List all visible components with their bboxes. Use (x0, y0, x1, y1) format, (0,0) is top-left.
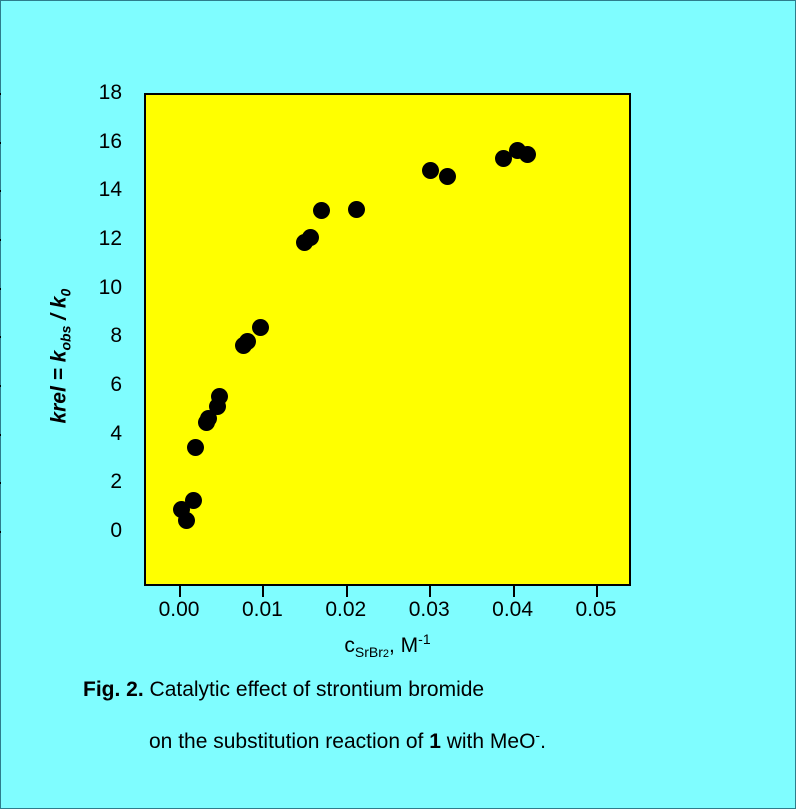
x-axis-tick-label: 0.00 (134, 599, 224, 620)
caption-compound-label: 1 (429, 730, 441, 753)
x-axis-tick-label: 0.05 (551, 599, 641, 620)
caption-line2-suffix: . (540, 730, 546, 753)
figure-caption: Fig. 2. Catalytic effect of strontium br… (1, 679, 796, 752)
y-axis-tick-mark (0, 288, 1, 290)
y-axis-tick-label: 2 (62, 471, 122, 492)
y-axis-tick-mark (0, 93, 1, 95)
data-point (313, 202, 330, 219)
x-axis-title: cSrBr2, M-1 (144, 631, 631, 660)
data-point (422, 162, 439, 179)
y-axis-title-zero: 0 (57, 289, 73, 297)
y-axis-title: krel = kobs / k0 (37, 256, 83, 456)
y-axis-title-k0: k (47, 296, 70, 308)
plot-data-area (146, 95, 629, 584)
x-axis-tick-mark (513, 586, 515, 597)
y-axis-title-equals: = (47, 362, 70, 386)
x-axis-title-unit: , M (389, 634, 418, 657)
x-axis-tick-label: 0.02 (301, 599, 391, 620)
caption-figure-label: Fig. 2. (83, 678, 144, 701)
y-axis-tick-mark (0, 336, 1, 338)
data-point (178, 512, 195, 529)
y-axis-tick-mark (0, 142, 1, 144)
caption-line-1: Fig. 2. Catalytic effect of strontium br… (1, 679, 796, 700)
caption-line1-text: Catalytic effect of strontium bromide (150, 678, 485, 701)
x-axis-tick-mark (346, 586, 348, 597)
plot-frame (144, 93, 631, 586)
y-axis-tick-mark (0, 239, 1, 241)
x-axis-title-c: c (344, 634, 355, 657)
figure-root: 024681012141618 krel = kobs / k0 0.000.0… (0, 0, 796, 809)
y-axis-title-slash: / (47, 308, 70, 326)
x-axis-tick-mark (179, 586, 181, 597)
y-axis-tick-mark (0, 385, 1, 387)
y-axis-tick-mark (0, 434, 1, 436)
data-point (519, 146, 536, 163)
caption-line2-prefix: on the substitution reaction of (149, 730, 423, 753)
y-axis-title-krel: krel (47, 386, 70, 423)
x-axis-tick-mark (262, 586, 264, 597)
x-axis-tick-mark (596, 586, 598, 597)
y-axis-tick-mark (0, 190, 1, 192)
y-axis-tick-label: 12 (62, 228, 122, 249)
x-axis-tick-label: 0.04 (468, 599, 558, 620)
data-point (302, 229, 319, 246)
x-axis-tick-label: 0.01 (217, 599, 307, 620)
caption-line2-middle: with MeO (447, 730, 536, 753)
y-axis-tick-label: 16 (62, 131, 122, 152)
y-axis-tick-label: 18 (62, 82, 122, 103)
y-axis-tick-mark (0, 482, 1, 484)
x-axis-tick-label: 0.03 (384, 599, 474, 620)
data-point (239, 333, 256, 350)
data-point (348, 201, 365, 218)
y-axis-tick-label: 14 (62, 179, 122, 200)
x-axis-tick-mark (429, 586, 431, 597)
data-point (252, 319, 269, 336)
y-axis-title-obs: obs (57, 326, 73, 351)
data-point (439, 168, 456, 185)
y-axis-tick-mark (0, 531, 1, 533)
data-point (211, 388, 228, 405)
caption-line-2: on the substitution reaction of 1 with M… (1, 728, 796, 752)
data-point (185, 492, 202, 509)
y-axis-title-k: k (47, 350, 70, 362)
x-axis-title-species: SrBr (355, 644, 383, 660)
data-point (187, 439, 204, 456)
y-axis-tick-label: 0 (62, 520, 122, 541)
x-axis-title-exponent: -1 (418, 631, 430, 647)
